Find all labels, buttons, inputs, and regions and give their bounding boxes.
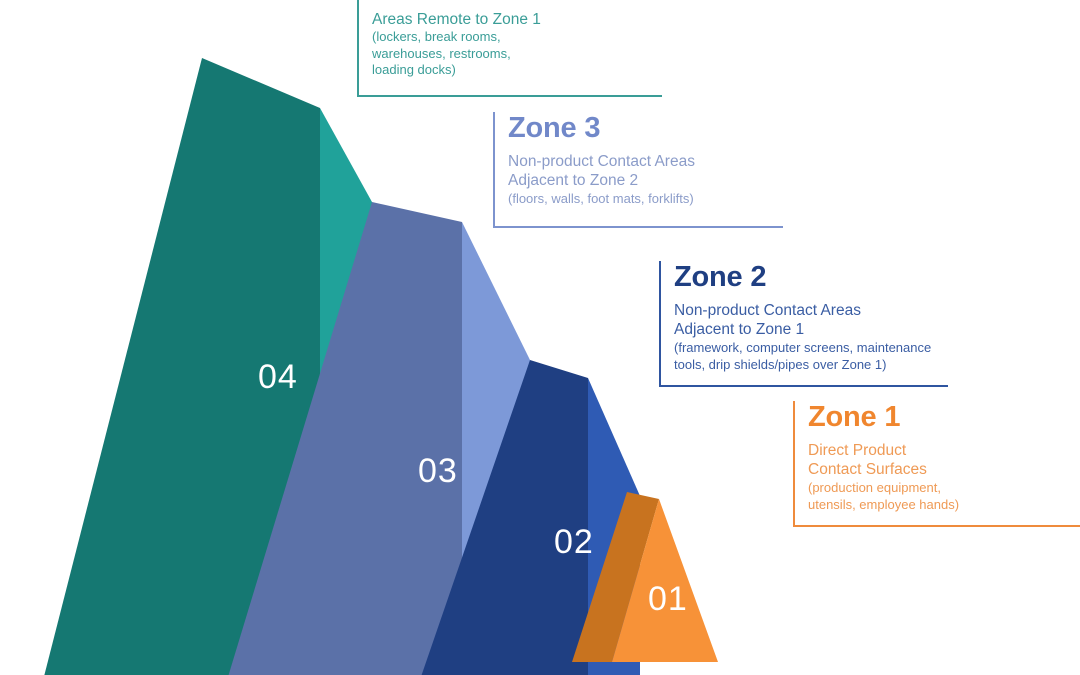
callout-zone4[interactable]: Zone 4 Areas Remote to Zone 1 (lockers, … (357, 0, 662, 97)
callout-zone4-title: Zone 4 (372, 0, 662, 4)
callout-zone2-subtitle-line1: Non-product Contact Areas (674, 301, 948, 321)
callout-zone2[interactable]: Zone 2 Non-product Contact Areas Adjacen… (659, 261, 948, 387)
callout-zone2-title: Zone 2 (674, 261, 948, 295)
callout-zone3-detail-line1: (floors, walls, foot mats, forklifts) (508, 191, 783, 207)
callout-zone3-subtitle-line1: Non-product Contact Areas (508, 152, 783, 172)
zone1-number: 01 (648, 580, 688, 618)
callout-zone3[interactable]: Zone 3 Non-product Contact Areas Adjacen… (493, 112, 783, 228)
callout-zone1-detail-line1: (production equipment, (808, 480, 1080, 496)
callout-zone2-detail-line1: (framework, computer screens, maintenanc… (674, 340, 948, 356)
callout-zone1-detail-line2: utensils, employee hands) (808, 497, 1080, 513)
callout-zone4-detail-line3: loading docks) (372, 62, 662, 78)
zone2-number: 02 (554, 523, 594, 561)
callout-zone1-subtitle-line1: Direct Product (808, 441, 1080, 461)
zone4-number: 04 (258, 358, 298, 396)
callout-zone2-subtitle-line2: Adjacent to Zone 1 (674, 320, 948, 340)
callout-zone4-detail-line2: warehouses, restrooms, (372, 46, 662, 62)
callout-zone2-detail-line2: tools, drip shields/pipes over Zone 1) (674, 357, 948, 373)
callout-zone1-title: Zone 1 (808, 401, 1080, 435)
callout-zone4-subtitle: Areas Remote to Zone 1 (372, 10, 662, 30)
callout-zone3-subtitle-line2: Adjacent to Zone 2 (508, 171, 783, 191)
callout-zone3-title: Zone 3 (508, 112, 783, 146)
callout-zone1-subtitle-line2: Contact Surfaces (808, 460, 1080, 480)
infographic-canvas: 04 03 02 01 Zone 4 Areas Remote to Zone … (0, 0, 1080, 675)
callout-zone1[interactable]: Zone 1 Direct Product Contact Surfaces (… (793, 401, 1080, 527)
callout-zone4-detail-line1: (lockers, break rooms, (372, 29, 662, 45)
zone3-number: 03 (418, 452, 458, 490)
